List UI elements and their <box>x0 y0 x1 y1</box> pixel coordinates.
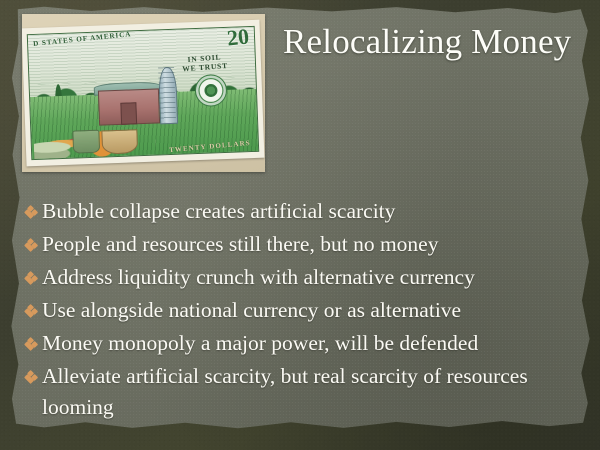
list-item: People and resources still there, but no… <box>22 229 578 261</box>
list-item: Bubble collapse creates artificial scarc… <box>22 196 578 228</box>
diamond-bullet-icon <box>22 296 41 327</box>
list-item: Address liquidity crunch with alternativ… <box>22 262 578 294</box>
bill-basket <box>101 130 138 154</box>
bill-sack <box>72 130 100 154</box>
bullet-text: People and resources still there, but no… <box>41 229 578 260</box>
diamond-bullet-icon <box>22 329 41 360</box>
bill-engraving: D STATES OF AMERICA 20 IN SOIL WE TRUST … <box>27 26 259 160</box>
bill-card: D STATES OF AMERICA 20 IN SOIL WE TRUST … <box>22 20 264 167</box>
diamond-bullet-icon <box>22 197 41 228</box>
presentation-slide: D STATES OF AMERICA 20 IN SOIL WE TRUST … <box>0 0 600 450</box>
bullet-text: Money monopoly a major power, will be de… <box>41 328 578 359</box>
list-item: Money monopoly a major power, will be de… <box>22 328 578 360</box>
list-item: Alleviate artificial scarcity, but real … <box>22 361 578 422</box>
slide-image-twenty-dollar-bill: D STATES OF AMERICA 20 IN SOIL WE TRUST … <box>22 14 265 172</box>
bill-silo-rings <box>158 67 176 122</box>
bullet-text: Address liquidity crunch with alternativ… <box>41 262 578 293</box>
bullet-text: Use alongside national currency or as al… <box>41 295 578 326</box>
diamond-bullet-icon <box>22 362 41 393</box>
bullet-text: Alleviate artificial scarcity, but real … <box>41 361 578 422</box>
bill-denomination: 20 <box>226 26 250 49</box>
bullet-text: Bubble collapse creates artificial scarc… <box>41 196 578 227</box>
slide-title: Relocalizing Money <box>283 22 583 61</box>
bill-seal-core <box>204 84 217 97</box>
diamond-bullet-icon <box>22 230 41 261</box>
slide-bullet-list: Bubble collapse creates artificial scarc… <box>22 196 578 423</box>
bill-motto: IN SOIL WE TRUST <box>182 52 229 74</box>
list-item: Use alongside national currency or as al… <box>22 295 578 327</box>
diamond-bullet-icon <box>22 263 41 294</box>
